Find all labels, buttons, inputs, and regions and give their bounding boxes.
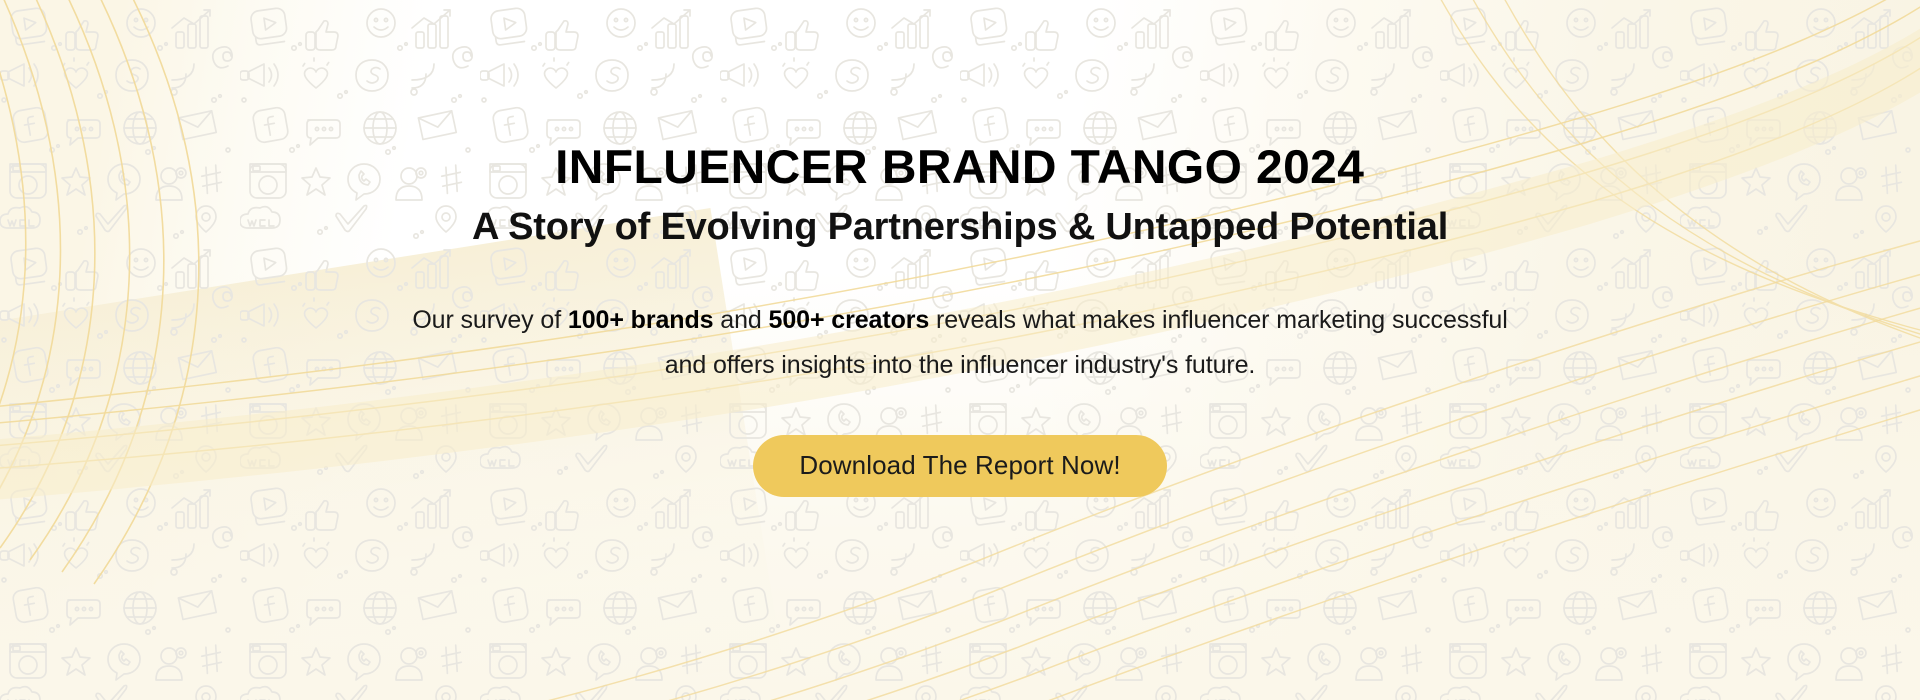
hero-content: INFLUENCER BRAND TANGO 2024 A Story of E… [0, 0, 1920, 700]
download-report-button[interactable]: Download The Report Now! [753, 435, 1166, 498]
cta-container: Download The Report Now! [753, 435, 1166, 498]
stat-creators: 500+ creators [769, 306, 930, 334]
description-part-2: and [713, 306, 768, 334]
hero-banner: INFLUENCER BRAND TANGO 2024 A Story of E… [0, 0, 1920, 700]
hero-description: Our survey of 100+ brands and 500+ creat… [410, 298, 1510, 389]
stat-brands: 100+ brands [568, 306, 714, 334]
description-part-1: Our survey of [412, 306, 568, 334]
page-title: INFLUENCER BRAND TANGO 2024 [555, 142, 1364, 192]
page-subtitle: A Story of Evolving Partnerships & Untap… [472, 206, 1448, 250]
